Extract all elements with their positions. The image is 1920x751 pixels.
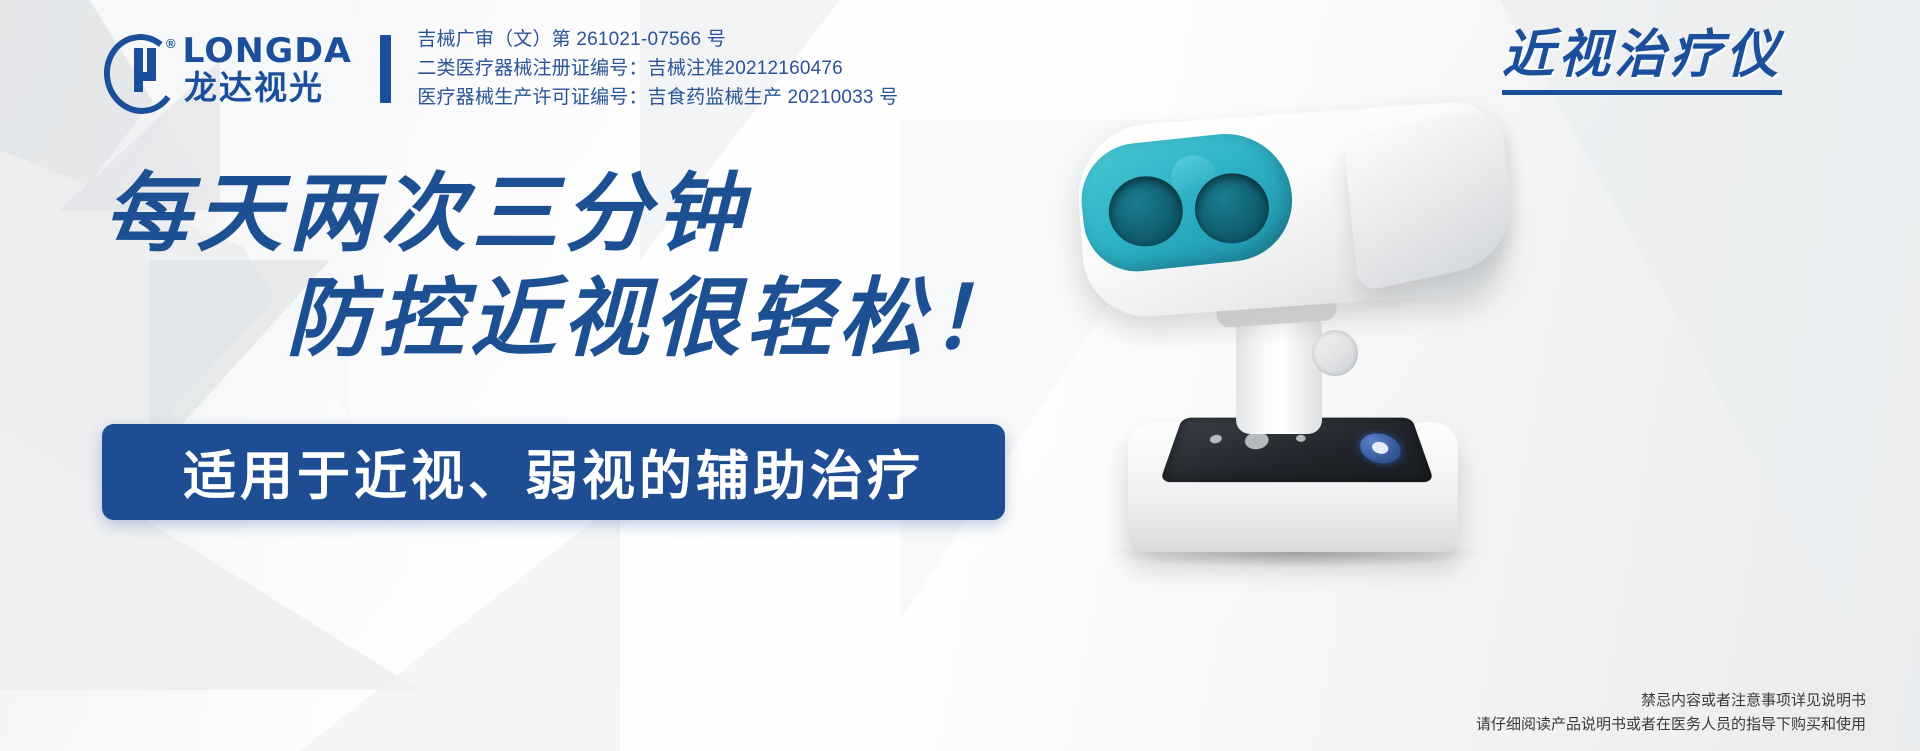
advertisement-banner: ® LONGDA 龙达视光 吉械广审（文）第 261021-07566 号 二类… [0,0,1920,751]
registration-line: 吉械广审（文）第 261021-07566 号 [417,27,898,54]
disclaimer-block: 禁忌内容或者注意事项详见说明书 请仔细阅读产品说明书或者在医务人员的指导下购买和… [1476,689,1866,737]
disclaimer-line-2: 请仔细阅读产品说明书或者在医务人员的指导下购买和使用 [1476,713,1866,737]
indication-callout-box: 适用于近视、弱视的辅助治疗 [102,424,1005,520]
brand-name-en: LONGDA [182,34,352,68]
disclaimer-line-1: 禁忌内容或者注意事项详见说明书 [1476,689,1866,713]
product-title-block: 近视治疗仪 [1502,26,1782,95]
power-knob-icon [1358,433,1405,463]
registration-line: 二类医疗器械注册证编号：吉械注准20212160476 [417,56,898,83]
device-neck [1236,314,1322,434]
vertical-divider [380,35,391,103]
registration-line: 医疗器械生产许可证编号：吉食药监械生产 20210033 号 [417,85,898,112]
registration-number-list: 吉械广审（文）第 261021-07566 号 二类医疗器械注册证编号：吉械注准… [417,27,898,112]
headline-line-2: 防控近视很轻松！ [104,267,1044,372]
background-facet [300,500,620,751]
longda-eye-logo-icon: ® [100,32,174,106]
headline-block: 每天两次三分钟 防控近视很轻松！ [104,162,1044,372]
indication-callout-text: 适用于近视、弱视的辅助治疗 [183,434,924,510]
brand-name-cn: 龙达视光 [184,71,350,106]
device-illustration [1020,92,1620,592]
device-pivot-joint [1312,330,1358,376]
headline-line-1: 每天两次三分钟 [104,162,1044,267]
registered-trademark-icon: ® [166,36,176,51]
brand-wordmark: LONGDA 龙达视光 [184,34,350,106]
product-title: 近视治疗仪 [1502,26,1782,86]
panel-button-icon [1244,432,1270,449]
panel-indicator-icon [1209,435,1223,444]
panel-indicator-icon [1296,435,1306,442]
brand-logo-block: ® LONGDA 龙达视光 吉械广审（文）第 261021-07566 号 二类… [100,27,898,112]
